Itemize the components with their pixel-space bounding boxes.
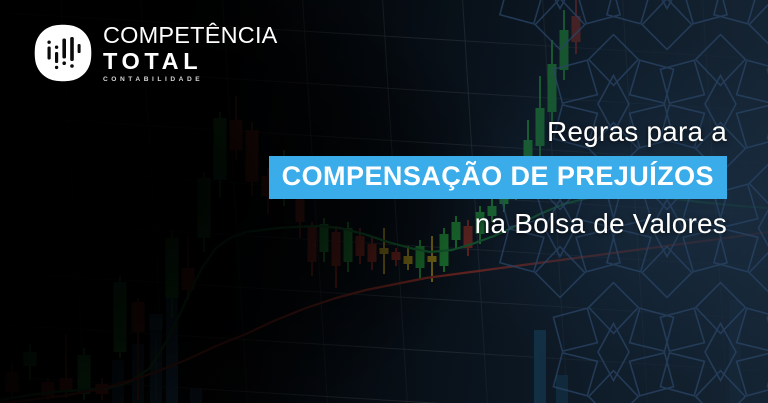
promo-banner: COMPETÊNCIA TOTAL CONTABILIDADE Regras p… [0, 0, 768, 403]
brand-wordmark: COMPETÊNCIA TOTAL CONTABILIDADE [103, 22, 278, 84]
brand-name-line1: COMPETÊNCIA [103, 24, 278, 48]
brand-name-line2: TOTAL [103, 50, 278, 74]
octagon-candlestick-logo-icon [34, 24, 92, 82]
brand-tagline: CONTABILIDADE [103, 77, 278, 84]
headline-block: Regras para a COMPENSAÇÃO DE PREJUÍZOS n… [37, 118, 727, 238]
headline-highlight-wrapper: COMPENSAÇÃO DE PREJUÍZOS [37, 156, 727, 199]
headline-line-top: Regras para a [37, 118, 727, 146]
brand-logo[interactable]: COMPETÊNCIA TOTAL CONTABILIDADE [34, 22, 278, 84]
headline-highlight-text: COMPENSAÇÃO DE PREJUÍZOS [269, 156, 727, 199]
headline-line-bottom: na Bolsa de Valores [37, 210, 727, 238]
